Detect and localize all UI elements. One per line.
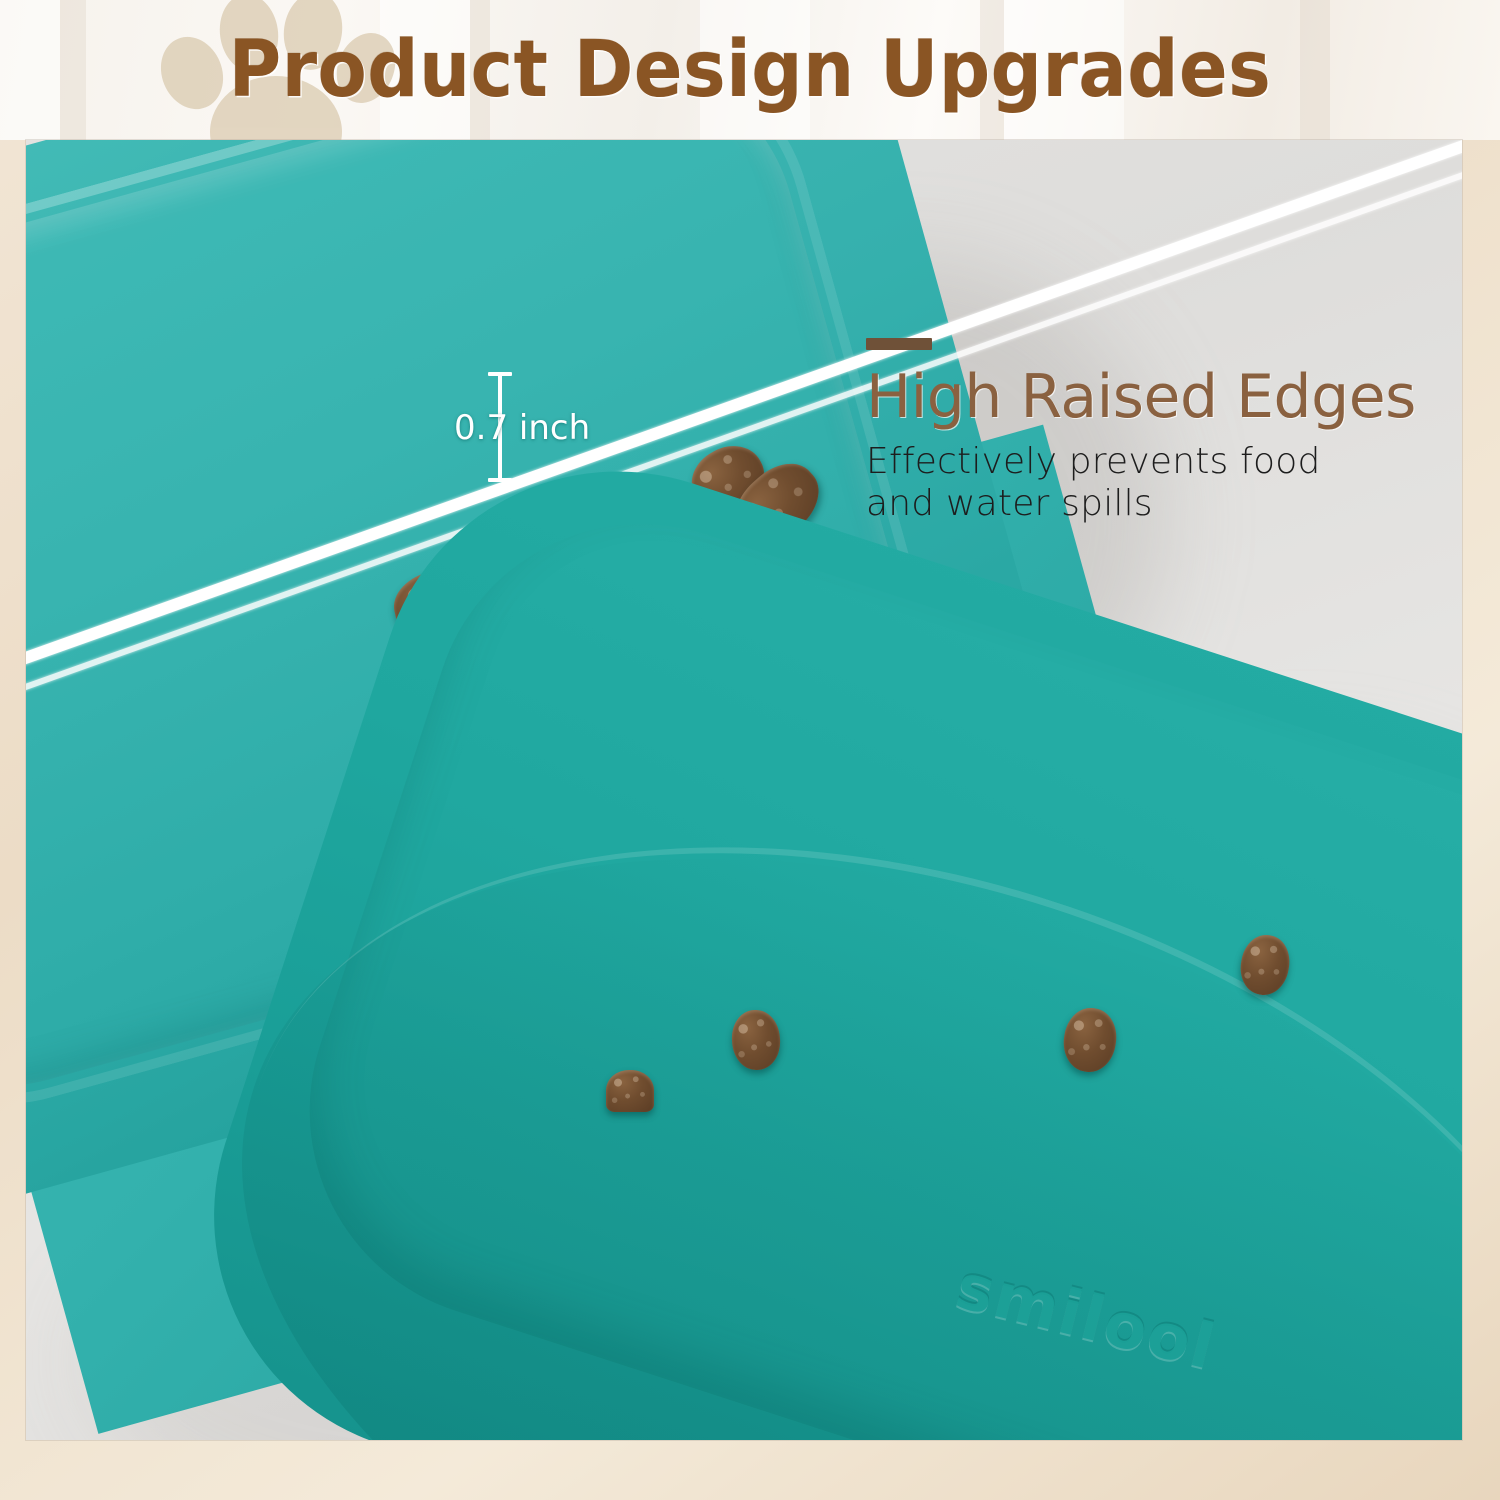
measurement-label: 0.7 inch [454,408,590,448]
dimension-cap-bottom [488,478,512,482]
callout-body-line: Effectively prevents food [866,441,1462,483]
header-band: Product Design Upgrades [0,0,1500,140]
page-title: Product Design Upgrades [60,0,1440,140]
callout-body: Effectively prevents food and water spil… [866,441,1462,526]
callout-body-line: and water spills [866,483,1462,525]
accent-bar [866,338,932,350]
kibble-piece [606,1070,654,1112]
callout-high-raised-edges: High Raised Edges Effectively prevents f… [866,338,1462,526]
header-stripe [0,0,60,140]
callout-heading: High Raised Edges [866,366,1462,429]
product-photo-composite: smilool 0.7 inch High Raised Edges Effec… [26,140,1462,1440]
infographic-page: Product Design Upgrades [0,0,1500,1500]
